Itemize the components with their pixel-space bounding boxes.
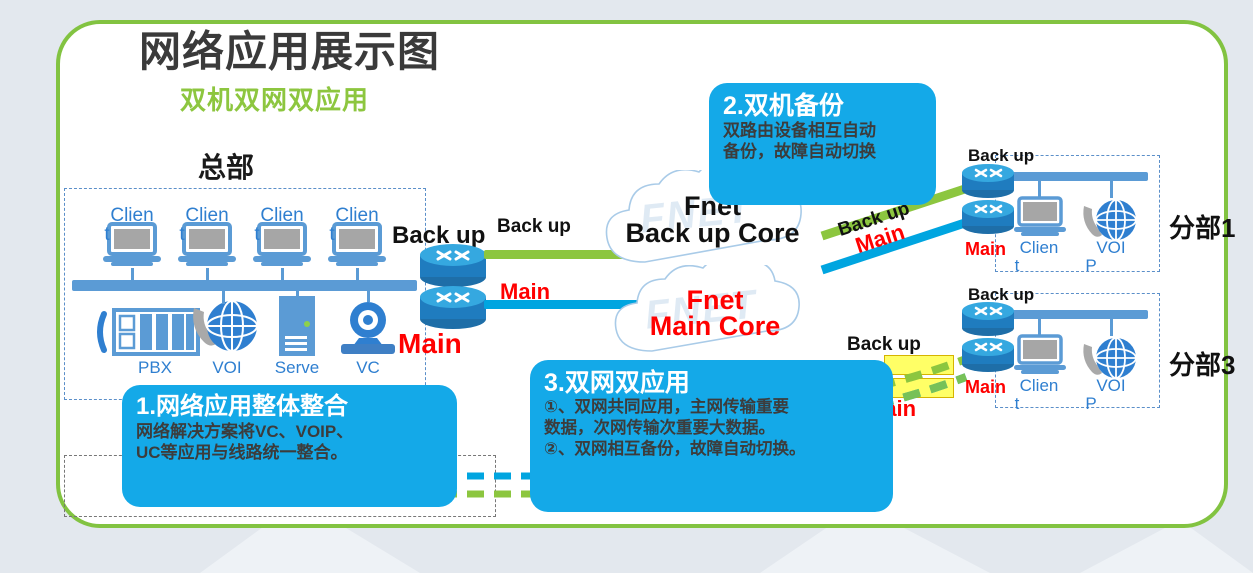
callout-2-body-line2: 备份，故障自动切换	[723, 141, 922, 162]
branch-1-bus	[1000, 172, 1148, 181]
branch-1-client-stub	[1038, 180, 1041, 198]
branch-1-router-main-label: Main	[965, 239, 1006, 260]
branch-3-title: 分部3	[1169, 345, 1235, 382]
vc-camera-icon	[337, 300, 399, 358]
headquarters-title: 总部	[198, 146, 254, 186]
server-icon	[275, 296, 319, 358]
callout-3-body-line2: 数据，次网传输次重要大数据。	[544, 418, 879, 439]
client-4-label-cont: t	[321, 224, 343, 246]
server-stub	[296, 288, 299, 298]
branch-1-client-label: Clien	[1006, 238, 1072, 258]
cloud-backup-line2: Back up Core	[600, 220, 825, 248]
callout-3-body-line1: ①、双网共同应用，主网传输重要	[544, 397, 879, 418]
router-backup-icon	[418, 243, 488, 288]
client-laptop-icon	[1012, 196, 1068, 240]
branch-3-voip-label-cont: P	[1080, 394, 1102, 414]
page-title: 网络应用展示图	[139, 31, 440, 73]
router-main-icon	[418, 285, 488, 330]
client-1-label-cont: t	[96, 224, 118, 246]
callout-1[interactable]: 1.网络应用整体整合 网络解决方案将VC、VOIP、 UC等应用与线路统一整合。	[122, 385, 457, 507]
link-hq-backup-label: Back up	[497, 216, 571, 238]
diagram-canvas: 网络应用展示图 双机双网双应用 总部 Clien t Clien t Clien…	[0, 0, 1253, 573]
branch-1-voip-label-cont: P	[1080, 256, 1102, 276]
client-laptop-icon	[1012, 334, 1068, 378]
page-subtitle: 双机双网双应用	[180, 87, 369, 113]
callout-3-title: 3.双网双应用	[544, 369, 879, 397]
client-2-label-cont: t	[171, 224, 193, 246]
branch-3-client-stub	[1038, 318, 1041, 336]
branch-1-title: 分部1	[1169, 208, 1235, 245]
callout-2[interactable]: 2.双机备份 双路由设备相互自动 备份，故障自动切换	[709, 83, 936, 205]
branch-3-router-main-label: Main	[965, 377, 1006, 398]
voip-icon	[186, 296, 264, 358]
link-branch3-backup-label: Back up	[847, 334, 921, 356]
callout-2-title: 2.双机备份	[723, 92, 922, 120]
client-3-label-cont: t	[246, 224, 268, 246]
callout-1-body-line1: 网络解决方案将VC、VOIP、	[136, 421, 443, 442]
branch-1-voip-label: VOI	[1080, 238, 1142, 258]
callout-3[interactable]: 3.双网双应用 ①、双网共同应用，主网传输重要 数据，次网传输次重要大数据。 ②…	[530, 360, 893, 512]
branch-3-bus	[1000, 310, 1148, 319]
cloud-main-line2: Main Core	[605, 313, 825, 341]
callout-1-body-line2: UC等应用与线路统一整合。	[136, 442, 443, 463]
branch-1-client-label-cont: t	[1006, 256, 1028, 276]
link-hq-main-label: Main	[500, 279, 550, 305]
branch-3-client-label-cont: t	[1006, 394, 1028, 414]
pbx-label: PBX	[120, 358, 190, 378]
callout-3-body-line3: ②、双网相互备份，故障自动切换。	[544, 439, 879, 460]
headquarters-bus	[72, 280, 417, 291]
voip-icon	[1078, 334, 1142, 382]
callout-1-title: 1.网络应用整体整合	[136, 394, 443, 421]
voip-label: VOI	[192, 358, 262, 378]
branch-3-client-label: Clien	[1006, 376, 1072, 396]
router-main-icon	[960, 199, 1016, 235]
hq-router-main-label: Main	[398, 328, 462, 360]
voip-icon	[1078, 196, 1142, 244]
callout-2-body-line1: 双路由设备相互自动	[723, 120, 922, 141]
router-backup-icon	[960, 301, 1016, 337]
router-backup-icon	[960, 163, 1016, 199]
vc-label: VC	[333, 358, 403, 378]
branch-1-voip-stub	[1110, 180, 1113, 198]
branch-3-voip-stub	[1110, 318, 1113, 336]
branch-3-voip-label: VOI	[1080, 376, 1142, 396]
voip-stub	[222, 288, 225, 304]
vc-stub	[367, 288, 370, 302]
router-main-icon	[960, 337, 1016, 373]
server-label: Serve	[262, 358, 332, 378]
